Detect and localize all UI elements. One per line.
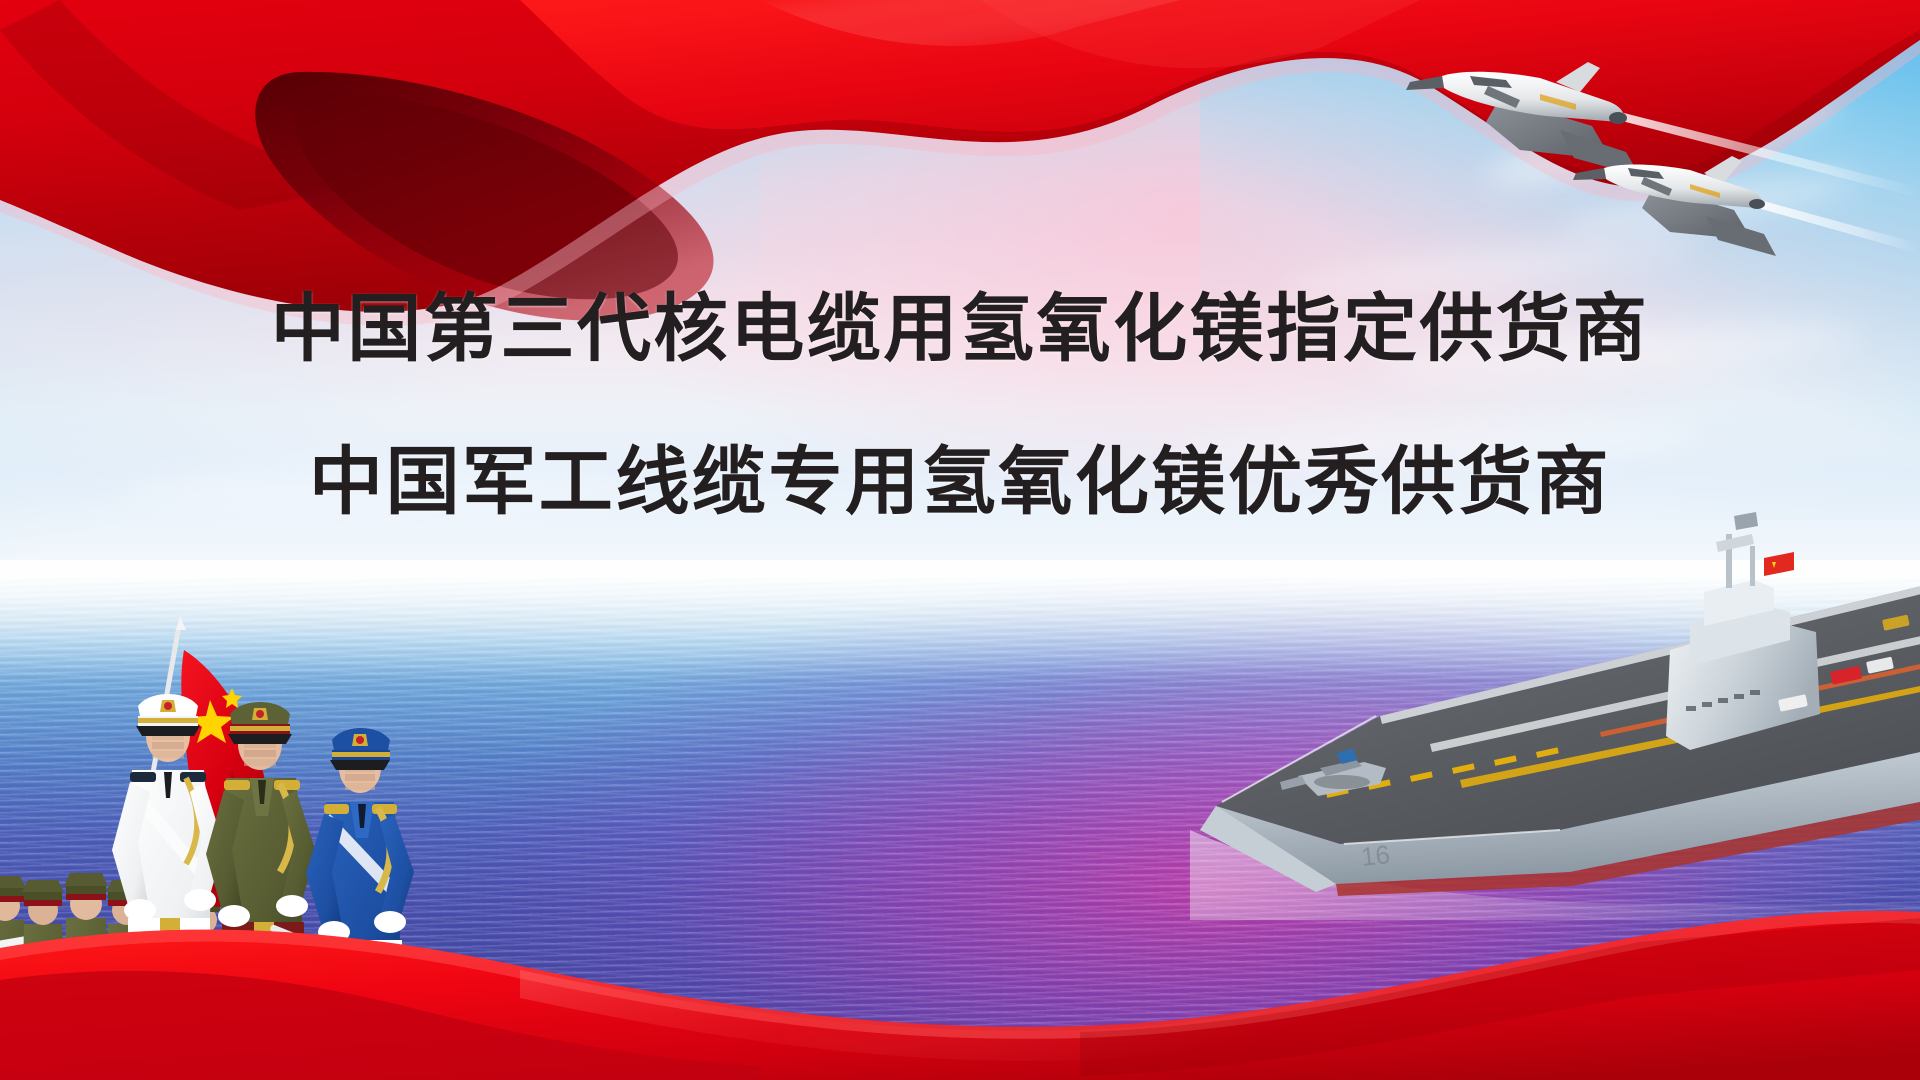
- cap-visor: [228, 734, 292, 744]
- banner-root: 16: [0, 0, 1920, 1080]
- carrier-island: [1666, 512, 1820, 750]
- cap-visor: [136, 726, 200, 736]
- fighter-jet-lead: [1406, 62, 1640, 176]
- fighter-jet-formation: [0, 0, 1920, 340]
- jet-nose: [1573, 168, 1606, 180]
- naval-ensign: [1764, 552, 1794, 576]
- red-silk-flag-bottom: [0, 820, 1920, 1080]
- island-radar: [1734, 512, 1758, 530]
- jet-nozzle: [1749, 199, 1765, 209]
- island-radar: [1716, 534, 1754, 552]
- flag-pole-finial: [176, 616, 186, 630]
- jet-nozzle: [1609, 112, 1627, 124]
- island-mast: [1750, 546, 1755, 586]
- fighter-jet-wing: [1573, 156, 1776, 256]
- jet-contrail: [1758, 200, 1920, 254]
- jet-fuselage: [1604, 164, 1762, 208]
- jet-nose: [1406, 76, 1444, 90]
- cloud-wisp: [120, 470, 640, 510]
- cap-visor: [330, 760, 390, 770]
